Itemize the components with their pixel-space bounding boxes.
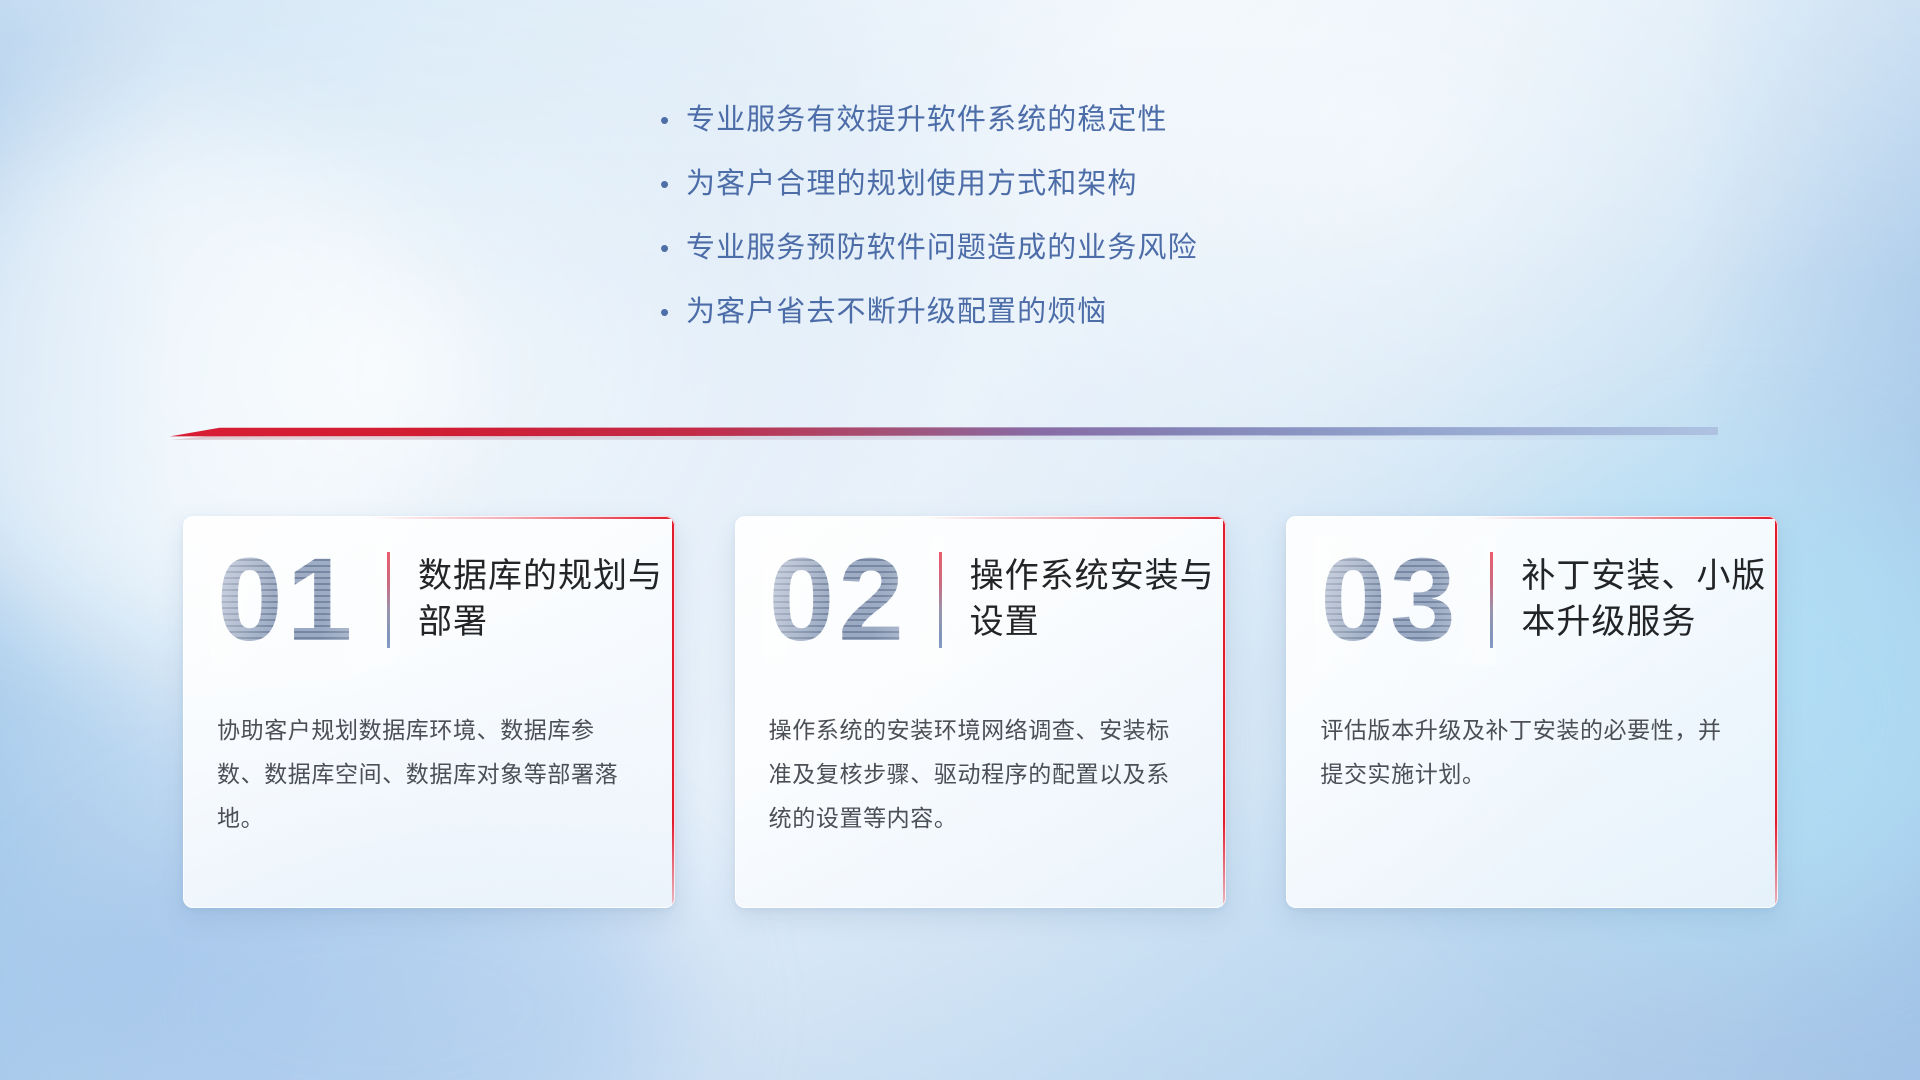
bullet-text: 为客户省去不断升级配置的烦恼 xyxy=(686,288,1107,330)
service-card-03[interactable]: 03 补丁安装、小版本升级服务 评估版本升级及补丁安装的必要性，并提交实施计划。 xyxy=(1286,516,1778,908)
bullet-text: 为客户合理的规划使用方式和架构 xyxy=(686,160,1138,202)
card-body-text: 评估版本升级及补丁安装的必要性，并提交实施计划。 xyxy=(1286,684,1778,796)
card-header: 02 操作系统安装与设置 xyxy=(735,516,1227,684)
list-item: • 专业服务预防软件问题造成的业务风险 xyxy=(660,224,1420,288)
service-card-group: 01 数据库的规划与部署 协助客户规划数据库环境、数据库参数、数据库空间、数据库… xyxy=(183,516,1778,908)
card-number-watermark: 02 xyxy=(769,541,939,659)
slide-canvas: • 专业服务有效提升软件系统的稳定性 • 为客户合理的规划使用方式和架构 • 专… xyxy=(0,0,1920,1080)
card-title-accent-bar xyxy=(1490,552,1493,648)
card-header: 01 数据库的规划与部署 xyxy=(183,516,675,684)
card-number-watermark: 01 xyxy=(217,541,387,659)
list-item: • 为客户省去不断升级配置的烦恼 xyxy=(660,288,1420,352)
card-title: 补丁安装、小版本升级服务 xyxy=(1521,554,1778,645)
list-item: • 为客户合理的规划使用方式和架构 xyxy=(660,160,1420,224)
card-title: 数据库的规划与部署 xyxy=(418,554,675,645)
section-divider xyxy=(170,427,1718,440)
card-number-watermark: 03 xyxy=(1320,541,1490,659)
service-card-01[interactable]: 01 数据库的规划与部署 协助客户规划数据库环境、数据库参数、数据库空间、数据库… xyxy=(183,516,675,908)
card-body-text: 协助客户规划数据库环境、数据库参数、数据库空间、数据库对象等部署落地。 xyxy=(183,684,675,840)
list-item: • 专业服务有效提升软件系统的稳定性 xyxy=(660,96,1420,160)
card-title: 操作系统安装与设置 xyxy=(970,554,1227,645)
bullet-text: 专业服务预防软件问题造成的业务风险 xyxy=(686,224,1198,266)
bullet-marker-icon: • xyxy=(660,235,686,261)
card-body-text: 操作系统的安装环境网络调查、安装标准及复核步骤、驱动程序的配置以及系统的设置等内… xyxy=(735,684,1227,840)
bullet-marker-icon: • xyxy=(660,299,686,325)
divider-gradient-bar xyxy=(170,427,1718,440)
divider-shadow xyxy=(170,435,1718,440)
service-card-02[interactable]: 02 操作系统安装与设置 操作系统的安装环境网络调查、安装标准及复核步骤、驱动程… xyxy=(735,516,1227,908)
card-title-accent-bar xyxy=(939,552,942,648)
bullet-marker-icon: • xyxy=(660,171,686,197)
bullet-text: 专业服务有效提升软件系统的稳定性 xyxy=(686,96,1168,138)
card-title-accent-bar xyxy=(387,552,390,648)
bullet-marker-icon: • xyxy=(660,107,686,133)
card-header: 03 补丁安装、小版本升级服务 xyxy=(1286,516,1778,684)
benefits-bullet-list: • 专业服务有效提升软件系统的稳定性 • 为客户合理的规划使用方式和架构 • 专… xyxy=(660,96,1420,352)
